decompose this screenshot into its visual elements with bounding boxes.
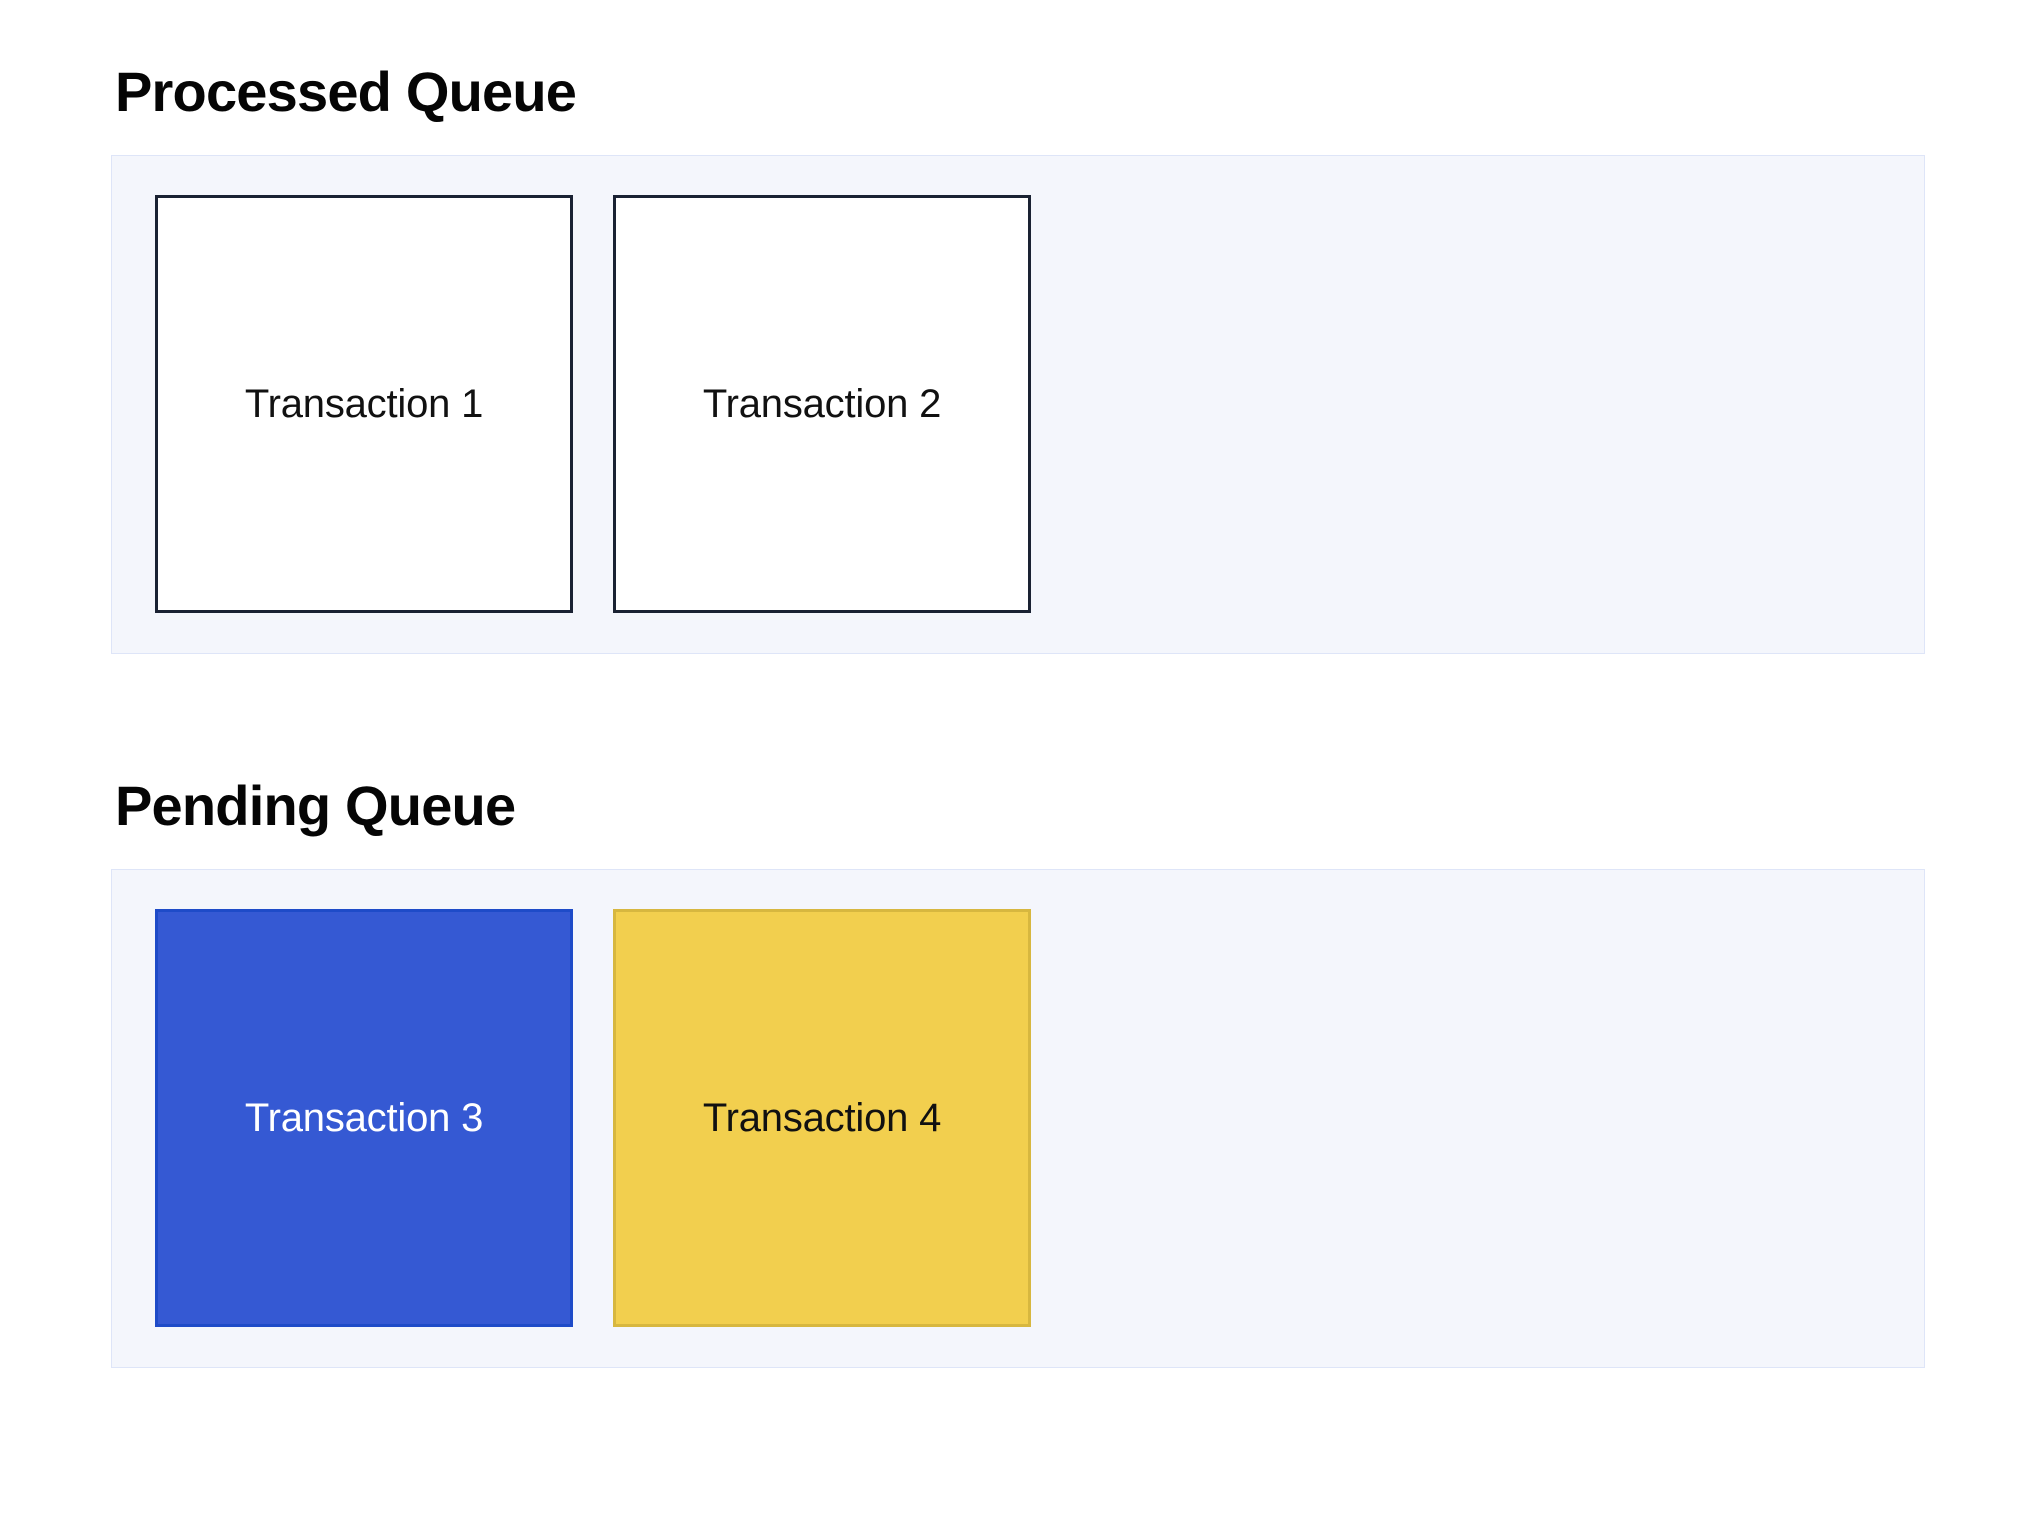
- transaction-card-3-label: Transaction 3: [245, 1094, 483, 1142]
- processed-queue-heading: Processed Queue: [115, 60, 1925, 124]
- pending-queue-container: Transaction 3 Transaction 4: [111, 869, 1925, 1368]
- pending-queue-section: Pending Queue Transaction 3 Transaction …: [111, 774, 1925, 1368]
- transaction-card-4[interactable]: Transaction 4: [613, 909, 1031, 1327]
- processed-queue-section: Processed Queue Transaction 1 Transactio…: [111, 60, 1925, 654]
- queues-page: Processed Queue Transaction 1 Transactio…: [0, 0, 2036, 1532]
- pending-queue-heading: Pending Queue: [115, 774, 1925, 838]
- processed-queue-container: Transaction 1 Transaction 2: [111, 155, 1925, 654]
- transaction-card-2-label: Transaction 2: [703, 380, 941, 428]
- transaction-card-1[interactable]: Transaction 1: [155, 195, 573, 613]
- transaction-card-1-label: Transaction 1: [245, 380, 483, 428]
- transaction-card-2[interactable]: Transaction 2: [613, 195, 1031, 613]
- transaction-card-3[interactable]: Transaction 3: [155, 909, 573, 1327]
- transaction-card-4-label: Transaction 4: [703, 1094, 941, 1142]
